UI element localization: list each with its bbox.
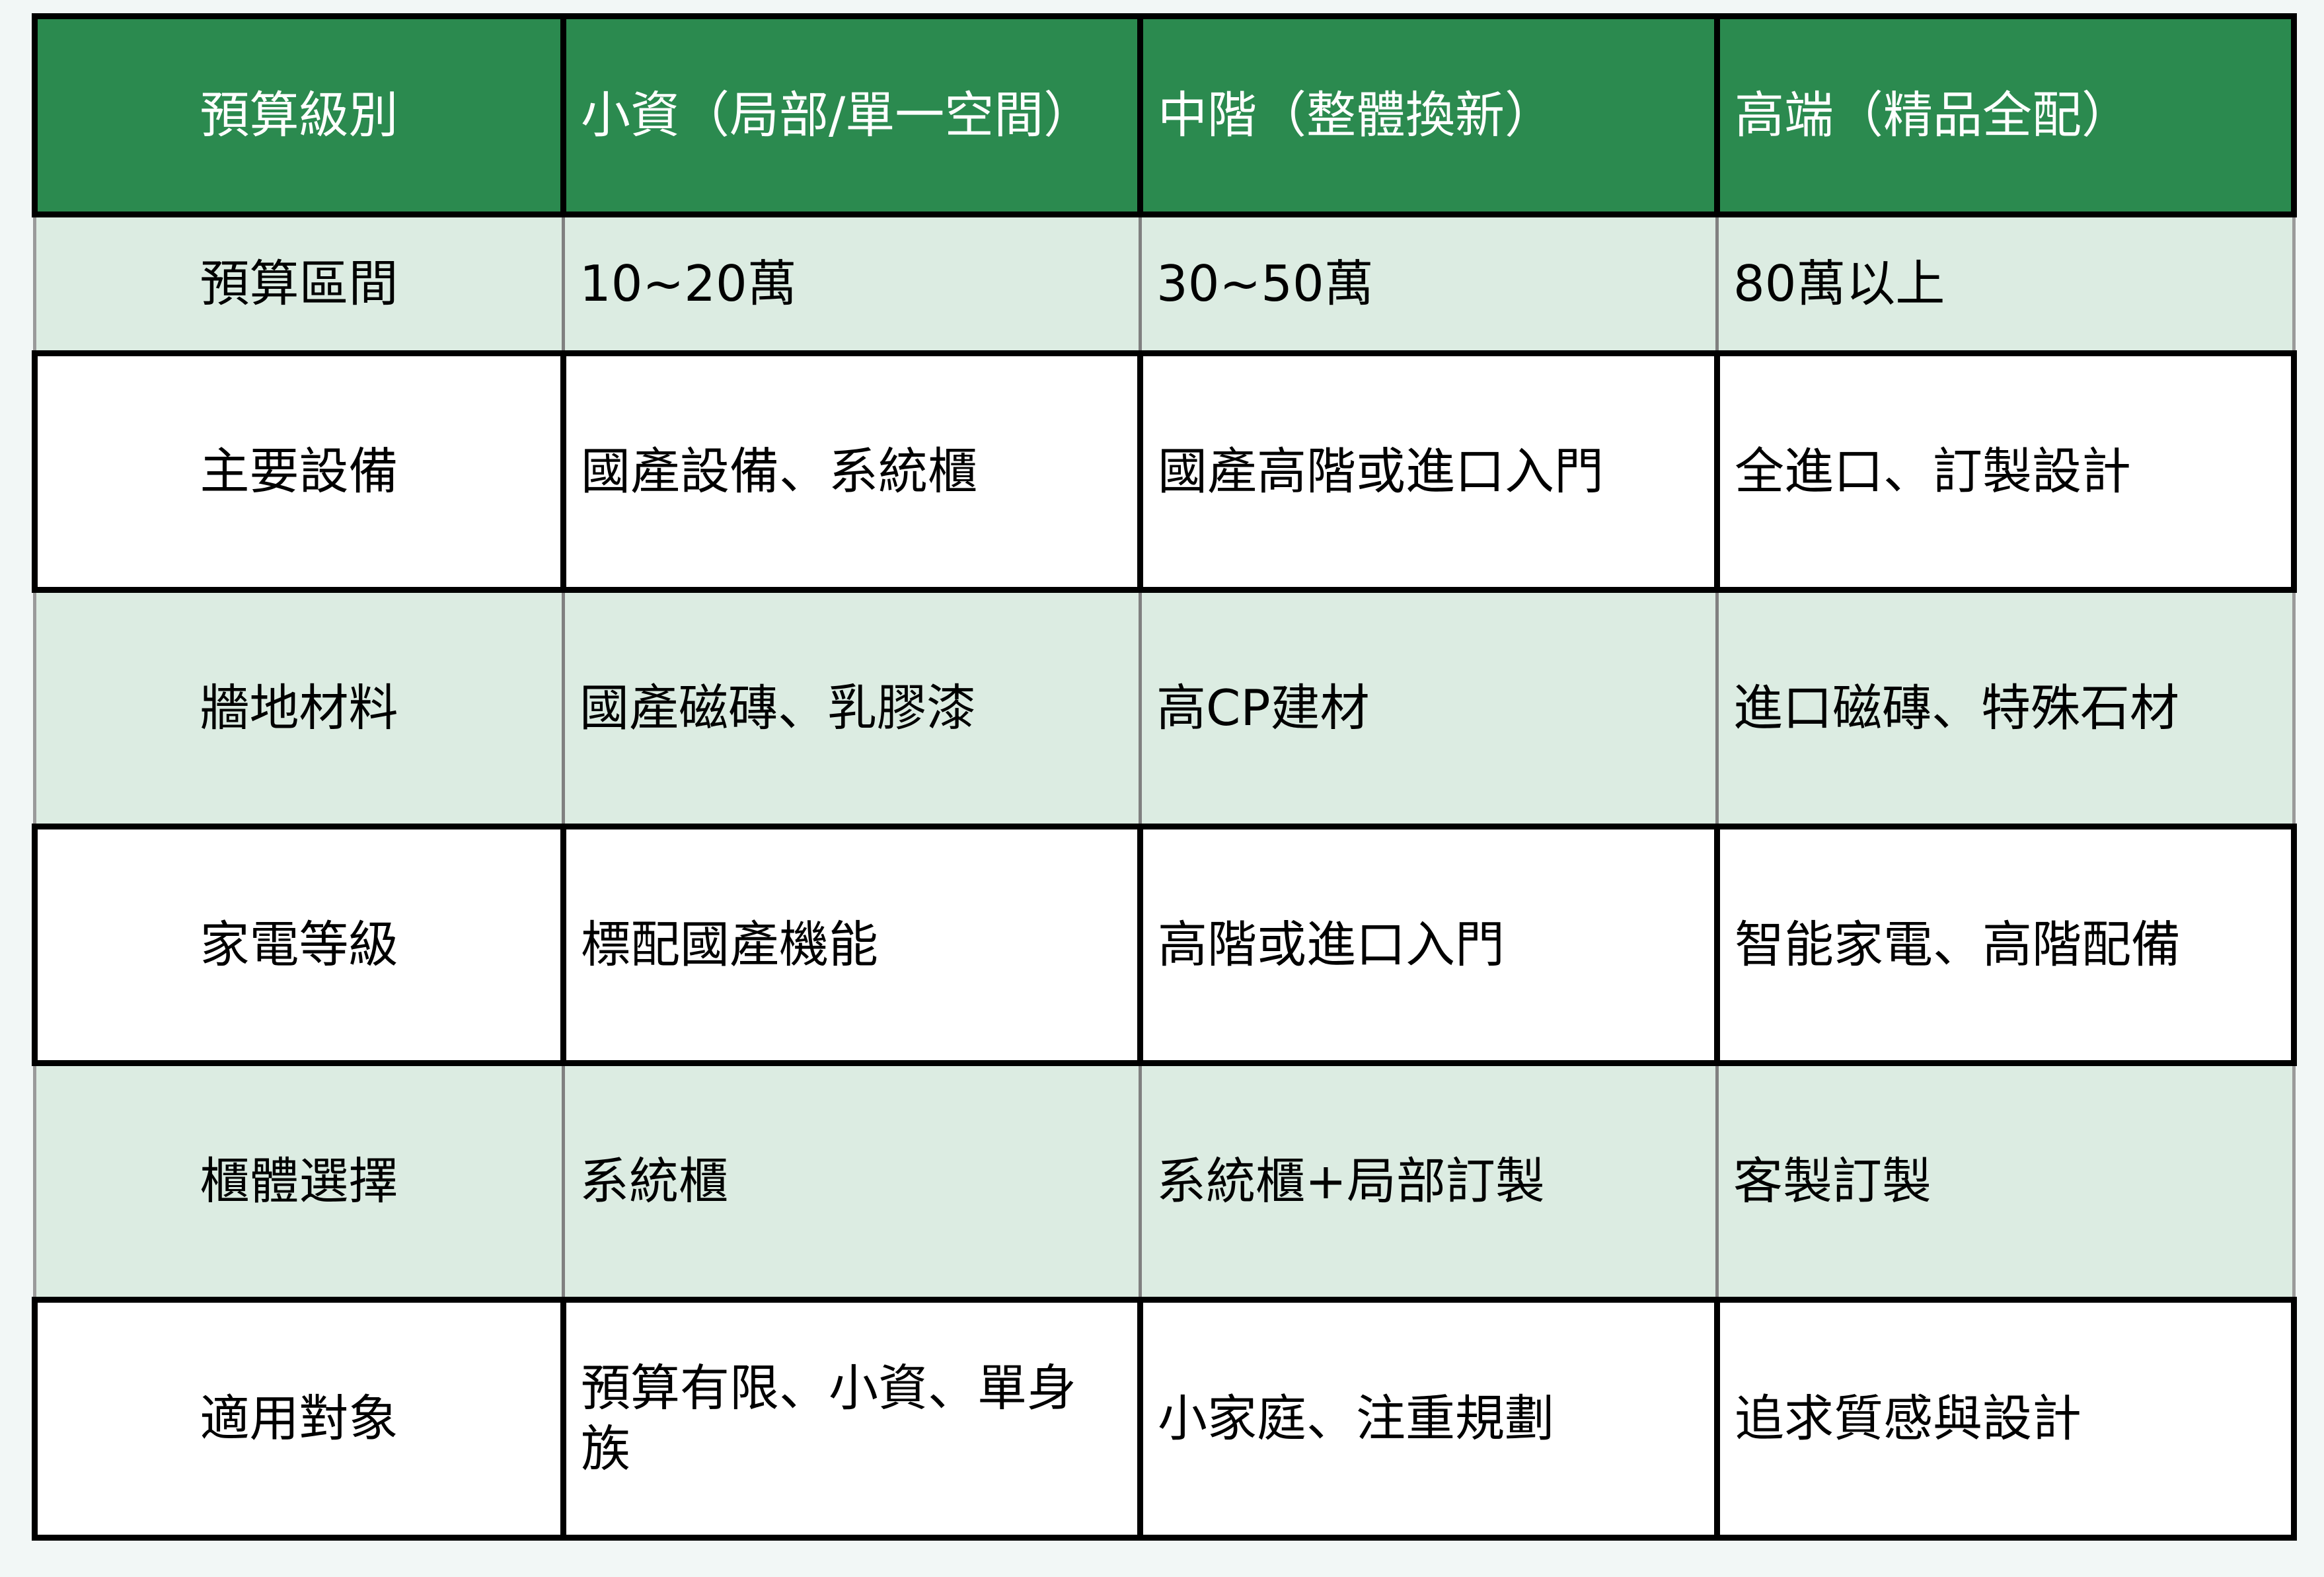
header-row: 預算級別 小資（局部/單一空間） 中階（整體換新） 高端（精品全配） <box>35 17 2294 215</box>
row-label-budget-range: 預算區間 <box>35 215 564 354</box>
cell-wall-floor-material-entry: 國產磁磚、乳膠漆 <box>564 590 1141 827</box>
cell-budget-range-entry: 10~20萬 <box>564 215 1141 354</box>
table-row: 櫃體選擇 系統櫃 系統櫃+局部訂製 客製訂製 <box>35 1063 2294 1300</box>
row-label-cabinet-choice: 櫃體選擇 <box>35 1063 564 1300</box>
cell-cabinet-choice-high: 客製訂製 <box>1717 1063 2294 1300</box>
table-header: 預算級別 小資（局部/單一空間） 中階（整體換新） 高端（精品全配） <box>35 17 2294 215</box>
column-header-budget-level: 預算級別 <box>35 17 564 215</box>
cell-wall-floor-material-high: 進口磁磚、特殊石材 <box>1717 590 2294 827</box>
cell-wall-floor-material-mid: 高CP建材 <box>1141 590 1717 827</box>
cell-target-audience-entry: 預算有限、小資、單身族 <box>564 1300 1141 1538</box>
cell-target-audience-high: 追求質感與設計 <box>1717 1300 2294 1538</box>
slide-canvas: 預算級別 小資（局部/單一空間） 中階（整體換新） 高端（精品全配） 預算區間 … <box>0 0 2324 1577</box>
column-header-entry-tier: 小資（局部/單一空間） <box>564 17 1141 215</box>
cell-appliance-grade-high: 智能家電、高階配備 <box>1717 827 2294 1063</box>
cell-main-equipment-entry: 國產設備、系統櫃 <box>564 354 1141 590</box>
column-header-high-tier: 高端（精品全配） <box>1717 17 2294 215</box>
table-row: 主要設備 國產設備、系統櫃 國產高階或進口入門 全進口、訂製設計 <box>35 354 2294 590</box>
table-body: 預算區間 10~20萬 30~50萬 80萬以上 主要設備 國產設備、系統櫃 國… <box>35 215 2294 1538</box>
table-row: 家電等級 標配國產機能 高階或進口入門 智能家電、高階配備 <box>35 827 2294 1063</box>
cell-cabinet-choice-mid: 系統櫃+局部訂製 <box>1141 1063 1717 1300</box>
cell-budget-range-high: 80萬以上 <box>1717 215 2294 354</box>
cell-appliance-grade-entry: 標配國產機能 <box>564 827 1141 1063</box>
budget-comparison-table: 預算級別 小資（局部/單一空間） 中階（整體換新） 高端（精品全配） 預算區間 … <box>32 13 2297 1541</box>
cell-budget-range-mid: 30~50萬 <box>1141 215 1717 354</box>
row-label-main-equipment: 主要設備 <box>35 354 564 590</box>
cell-main-equipment-high: 全進口、訂製設計 <box>1717 354 2294 590</box>
cell-target-audience-mid: 小家庭、注重規劃 <box>1141 1300 1717 1538</box>
table-row: 牆地材料 國產磁磚、乳膠漆 高CP建材 進口磁磚、特殊石材 <box>35 590 2294 827</box>
column-header-mid-tier: 中階（整體換新） <box>1141 17 1717 215</box>
table-row: 適用對象 預算有限、小資、單身族 小家庭、注重規劃 追求質感與設計 <box>35 1300 2294 1538</box>
row-label-target-audience: 適用對象 <box>35 1300 564 1538</box>
cell-main-equipment-mid: 國產高階或進口入門 <box>1141 354 1717 590</box>
row-label-appliance-grade: 家電等級 <box>35 827 564 1063</box>
cell-cabinet-choice-entry: 系統櫃 <box>564 1063 1141 1300</box>
row-label-wall-floor-material: 牆地材料 <box>35 590 564 827</box>
table-row: 預算區間 10~20萬 30~50萬 80萬以上 <box>35 215 2294 354</box>
cell-appliance-grade-mid: 高階或進口入門 <box>1141 827 1717 1063</box>
